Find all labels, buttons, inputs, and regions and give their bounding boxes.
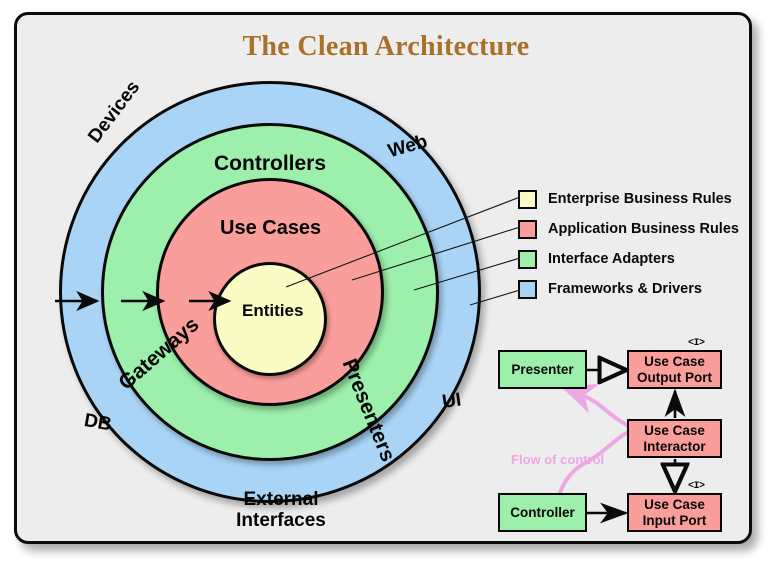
uml-box-presenter[interactable]: Presenter: [498, 350, 587, 389]
external-line-1: External: [211, 490, 351, 511]
ring-label-ui: UI: [441, 390, 463, 413]
page-title: The Clean Architecture: [17, 31, 752, 63]
legend-label: Enterprise Business Rules: [548, 191, 732, 207]
diagram-frame: The Clean Architecture: [14, 12, 752, 544]
legend-item-frameworks-drivers: Frameworks & Drivers: [518, 276, 739, 302]
legend-item-application-business-rules: Application Business Rules: [518, 216, 739, 242]
uml-box-use-case-input-port[interactable]: Use Case Input Port: [627, 493, 722, 532]
interactor-line-1: Use Case: [643, 423, 705, 438]
legend-label: Frameworks & Drivers: [548, 281, 702, 297]
legend-swatch-icon: [518, 280, 537, 299]
legend-label: Interface Adapters: [548, 251, 675, 267]
legend-label: Application Business Rules: [548, 221, 739, 237]
ring-label-entities: Entities: [242, 302, 303, 320]
ring-label-external-interfaces: External Interfaces: [211, 490, 351, 531]
legend-swatch-icon: [518, 190, 537, 209]
uml-box-controller[interactable]: Controller: [498, 493, 587, 532]
interactor-line-2: Interactor: [643, 439, 705, 454]
external-line-2: Interfaces: [211, 511, 351, 532]
legend-item-interface-adapters: Interface Adapters: [518, 246, 739, 272]
legend: Enterprise Business Rules Application Bu…: [518, 186, 739, 306]
ring-label-controllers: Controllers: [214, 153, 326, 176]
legend-swatch-icon: [518, 220, 537, 239]
ring-label-use-cases: Use Cases: [220, 218, 321, 240]
uml-box-use-case-interactor[interactable]: Use Case Interactor: [627, 419, 722, 458]
input-port-line-2: Input Port: [643, 513, 707, 528]
input-port-line-1: Use Case: [643, 497, 707, 512]
output-port-line-1: Use Case: [637, 354, 712, 369]
interface-marker-icon: <I>: [688, 338, 705, 349]
ring-label-db: DB: [82, 411, 113, 436]
flow-of-control-label: Flow of control: [511, 452, 604, 467]
legend-item-enterprise-business-rules: Enterprise Business Rules: [518, 186, 739, 212]
interface-marker-icon: <I>: [688, 481, 705, 492]
output-port-line-2: Output Port: [637, 370, 712, 385]
clean-architecture-diagram: The Clean Architecture: [0, 0, 772, 567]
legend-swatch-icon: [518, 250, 537, 269]
uml-box-use-case-output-port[interactable]: Use Case Output Port: [627, 350, 722, 389]
